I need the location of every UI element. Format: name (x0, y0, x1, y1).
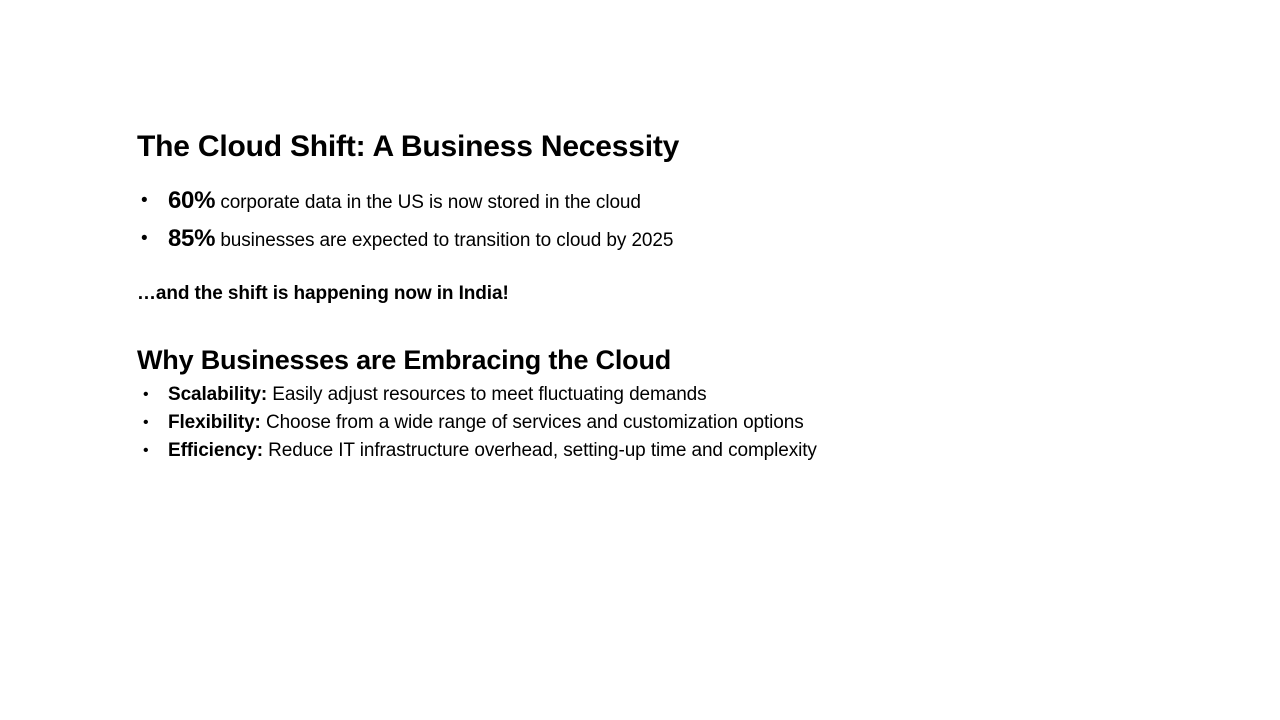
bullet-icon: • (143, 409, 149, 437)
list-item: • 60% corporate data in the US is now st… (137, 182, 1137, 220)
stat-value: 60% (168, 187, 215, 214)
list-item: • Scalability: Easily adjust resources t… (137, 381, 1137, 409)
list-item: • Efficiency: Reduce IT infrastructure o… (137, 437, 1137, 465)
stat-description: corporate data in the US is now stored i… (215, 192, 641, 213)
benefit-description: Reduce IT infrastructure overhead, setti… (263, 440, 817, 461)
slide-content-body: The Cloud Shift: A Business Necessity • … (137, 128, 1137, 465)
bullet-icon: • (143, 381, 149, 409)
benefit-label: Efficiency: (168, 440, 263, 461)
stat-description: businesses are expected to transition to… (215, 230, 673, 251)
benefit-label: Flexibility: (168, 412, 261, 433)
benefits-list: • Scalability: Easily adjust resources t… (137, 381, 1137, 465)
statistics-list: • 60% corporate data in the US is now st… (137, 182, 1137, 258)
list-item: • Flexibility: Choose from a wide range … (137, 409, 1137, 437)
slide-canvas: The Cloud Shift: A Business Necessity • … (0, 0, 1280, 720)
benefit-description: Choose from a wide range of services and… (261, 412, 804, 433)
page-title: The Cloud Shift: A Business Necessity (137, 128, 1137, 166)
benefit-description: Easily adjust resources to meet fluctuat… (267, 384, 706, 405)
section-title: Why Businesses are Embracing the Cloud (137, 343, 1137, 377)
tagline-text: …and the shift is happening now in India… (137, 282, 1137, 306)
benefit-label: Scalability: (168, 384, 267, 405)
bullet-icon: • (143, 437, 149, 465)
bullet-icon: • (141, 182, 148, 220)
bullet-icon: • (141, 220, 148, 258)
stat-value: 85% (168, 225, 215, 252)
list-item: • 85% businesses are expected to transit… (137, 220, 1137, 258)
